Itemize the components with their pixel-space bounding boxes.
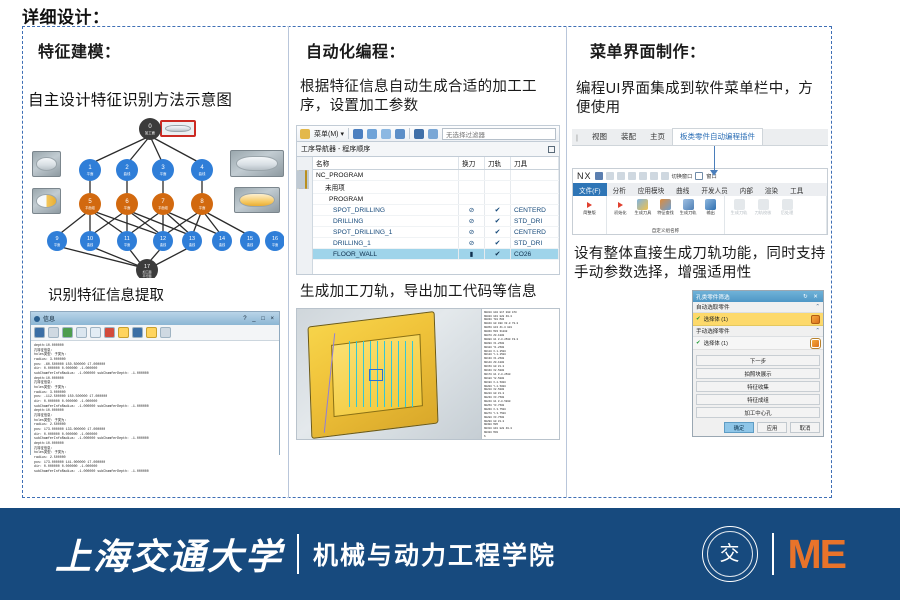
- dialog-row-auto-select[interactable]: ✔ 选择体 (1): [693, 313, 823, 326]
- software-menubar: | 视图 装配 主页 板类零件自动编程插件: [572, 129, 828, 146]
- ribbon-item-label: 生成刀轨: [729, 211, 749, 216]
- menu-label: 菜单(M): [314, 129, 339, 139]
- ribbon-item-label: 输出: [701, 211, 720, 216]
- toolpath-line: [363, 341, 364, 407]
- me-logo: ME: [788, 531, 846, 578]
- cancel-button[interactable]: 取消: [790, 422, 820, 433]
- select-point-icon[interactable]: [381, 129, 391, 139]
- toolpath-preview: N0010 G40 G17 G90 G70 N0020 G91 G28 Z0.0…: [296, 308, 560, 440]
- minimize-icon[interactable]: [160, 327, 171, 338]
- university-seal-logo: 交: [702, 526, 758, 582]
- table-row[interactable]: SPOT_DRILLING_1 ⊘ ✔ CENTERD: [313, 227, 559, 238]
- row-name: PROGRAM: [313, 194, 459, 205]
- svg-text:平面: 平面: [272, 243, 278, 247]
- ribbon-item-label: 特征查找: [656, 211, 675, 216]
- dialog-section-auto[interactable]: 自动选取零件 ⌃: [693, 302, 823, 313]
- svg-text:12: 12: [160, 236, 166, 242]
- toolpath-line: [384, 341, 385, 407]
- svg-text:14: 14: [219, 236, 225, 242]
- svg-text:平面组: 平面组: [85, 205, 95, 210]
- row-tool-change: ⊘: [459, 205, 485, 216]
- ribbon-item-label: 生成刀具: [634, 211, 653, 216]
- tree-node-8: 8 平面: [191, 193, 213, 215]
- row-tool: CENTERD: [511, 227, 559, 238]
- banner-divider: [297, 534, 299, 574]
- svg-text:平面: 平面: [160, 171, 167, 176]
- cad-3d-view[interactable]: [297, 309, 481, 439]
- tab-tools[interactable]: 工具: [784, 183, 809, 196]
- info-window-titlebar: 信息 ? _ □ ×: [31, 312, 279, 325]
- center-hole-button[interactable]: 加工中心孔: [696, 407, 820, 418]
- tree-node-12: 12 曲线: [153, 231, 173, 251]
- svg-text:曲线: 曲线: [219, 242, 226, 247]
- tree-node-5: 5 平面组: [79, 193, 101, 215]
- tree-node-1: 1 平面: [79, 159, 101, 181]
- svg-text:15: 15: [247, 236, 253, 242]
- navigator-rail: [297, 157, 313, 274]
- row-tool: [511, 194, 559, 205]
- next-step-button[interactable]: 下一步: [696, 355, 820, 366]
- svg-text:平行面: 平行面: [142, 273, 151, 278]
- ribbon-item-feature-find[interactable]: 特征查找: [656, 198, 675, 216]
- operation-table: 名称 换刀 刀轨 刀具 NC_PROGRAM: [313, 157, 559, 274]
- row-name: 未用项: [313, 181, 459, 194]
- menubar-block: | 视图 装配 主页 板类零件自动编程插件: [572, 129, 828, 146]
- nx-ribbon: NX 切换窗口 窗口 文件(F) 分析 应用模块 曲线 开发人员 内部 渲染: [572, 168, 828, 235]
- toolpath-line: [398, 341, 399, 407]
- row-tool-change: [459, 194, 485, 205]
- redo-icon[interactable]: [617, 172, 625, 180]
- panel-automated-programming: 自动化编程： 根据特征信息自动生成合适的加工工序，设置加工参数 菜单(M) ▾ …: [290, 26, 566, 498]
- delete-icon[interactable]: [104, 327, 115, 338]
- table-row[interactable]: SPOT_DRILLING ⊘ ✔ CENTERD: [313, 205, 559, 216]
- tree-node-13: 13 曲线: [182, 231, 202, 251]
- rail-workpiece-icon[interactable]: [307, 170, 309, 189]
- toolpath-line: [412, 341, 413, 407]
- tree-node-9: 9 平面: [47, 231, 67, 251]
- nx-logo: NX: [577, 171, 592, 181]
- row-tool-change: [459, 170, 485, 181]
- ribbon-group-1: 简整版: [573, 196, 607, 234]
- dialog-row-manual-select[interactable]: ✔ 选择体 (1): [693, 337, 823, 350]
- info-window-toolbar: [31, 325, 279, 341]
- apply-button[interactable]: 应用: [757, 422, 787, 433]
- row-toolpath: ✔: [485, 238, 511, 249]
- ribbon-groups: 简整版 初始化 生成刀具: [573, 196, 827, 234]
- tree-node-2: 2 曲线: [116, 159, 138, 181]
- ribbon-tabs: 文件(F) 分析 应用模块 曲线 开发人员 内部 渲染 工具: [573, 183, 827, 196]
- ribbon-item-gen-tool[interactable]: 生成刀具: [634, 198, 653, 216]
- panel-menu-ui: 菜单界面制作： 编程UI界面集成到软件菜单栏中，方便使用 | 视图 装配 主页 …: [568, 26, 832, 498]
- col-toolpath: 刀轨: [485, 157, 511, 170]
- selection-filter-input[interactable]: 无选择过滤器: [442, 128, 556, 140]
- row-tool-change: ⊘: [459, 216, 485, 227]
- tree-node-10: 10 曲线: [80, 231, 100, 251]
- svg-text:曲线: 曲线: [160, 242, 167, 247]
- callout-arrow-shaft: [714, 146, 715, 172]
- table-row-selected[interactable]: FLOOR_WALL ▮ ✔ CO26: [313, 249, 559, 260]
- nx-navigator-block: 菜单(M) ▾ 无选择过滤器 工序导航器 - 程序顺序: [296, 125, 560, 275]
- row-tool-change: [459, 181, 485, 194]
- row-name: DRILLING: [313, 216, 459, 227]
- undo-icon[interactable]: [132, 327, 143, 338]
- info-window-controls[interactable]: ? _ □ ×: [243, 316, 276, 322]
- toolpath-line: [391, 341, 392, 407]
- section-label: 手动选择零件: [696, 327, 730, 335]
- svg-text:曲线: 曲线: [247, 242, 254, 247]
- paste-icon[interactable]: [650, 172, 658, 180]
- operation-navigator-header: 工序导航器 - 程序顺序: [296, 142, 560, 157]
- svg-text:平面组: 平面组: [158, 205, 168, 210]
- svg-text:曲线: 曲线: [124, 171, 131, 176]
- ribbon-group-disabled: 生成刀轨 刀轨校核 后处理: [725, 196, 827, 234]
- row-toolpath: [485, 181, 511, 194]
- snap-icon[interactable]: [414, 129, 424, 139]
- menu-item-view[interactable]: 视图: [585, 129, 614, 145]
- panel3-bottom-description: 设有整体直接生成刀轨功能，同时支持手动参数选择，增强适用性: [574, 245, 826, 282]
- feature-tree-diagram: 0 加工面 1 平面 2 曲线 3 平面 4 曲线: [32, 118, 284, 278]
- svg-text:13: 13: [189, 236, 195, 242]
- snapshot-display-button[interactable]: 拍照块展示: [696, 368, 820, 379]
- footer-banner: 上海交通大学 机械与动力工程学院 交 ME: [0, 508, 900, 600]
- select-edge-icon[interactable]: [367, 129, 377, 139]
- feature-collect-button[interactable]: 特征收集: [696, 381, 820, 392]
- tab-curve[interactable]: 曲线: [670, 183, 695, 196]
- tree-node-0: 0 加工面: [139, 118, 161, 140]
- save-icon[interactable]: [34, 327, 45, 338]
- row-name: FLOOR_WALL: [313, 249, 459, 260]
- refresh-icon[interactable]: [90, 327, 101, 338]
- ribbon-item-label: 后处理: [777, 211, 797, 216]
- column-divider-2: [566, 26, 567, 498]
- seal-glyph: 交: [720, 544, 740, 564]
- dialog-wrapper: 孔类零件筛选 ↻ ✕ 自动选取零件 ⌃ ✔ 选择体 (1) 手动选择零件 ⌃: [568, 290, 824, 437]
- panel2-heading: 自动化编程：: [306, 38, 566, 62]
- filter-icon[interactable]: [428, 129, 438, 139]
- svg-text:平面: 平面: [199, 205, 206, 210]
- tree-graph-svg: 0 加工面 1 平面 2 曲线 3 平面 4 曲线: [32, 118, 284, 278]
- chevron-down-icon: ▾: [341, 130, 345, 138]
- operation-table-header: 名称 换刀 刀轨 刀具: [313, 157, 559, 170]
- toolbar-separator-1: [348, 128, 349, 139]
- slide-root: 详细设计： 特征建模： 自主设计特征识别方法示意图: [0, 0, 900, 600]
- svg-text:曲线: 曲线: [189, 242, 196, 247]
- quick-access-toolbar: NX 切换窗口 窗口: [573, 169, 827, 183]
- svg-text:平面: 平面: [124, 205, 131, 210]
- row-toolpath: [485, 170, 511, 181]
- tab-application[interactable]: 应用模块: [632, 183, 670, 196]
- toolpath-line: [356, 341, 357, 407]
- svg-text:曲线: 曲线: [199, 171, 206, 176]
- row-tool: STD_DRI: [511, 216, 559, 227]
- row-tool: [511, 181, 559, 194]
- row-label: 选择体 (1): [704, 315, 728, 323]
- col-name: 名称: [313, 157, 459, 170]
- hole-part-filter-dialog: 孔类零件筛选 ↻ ✕ 自动选取零件 ⌃ ✔ 选择体 (1) 手动选择零件 ⌃: [692, 290, 824, 437]
- row-toolpath: ✔: [485, 205, 511, 216]
- chevron-up-icon[interactable]: ⌃: [815, 328, 820, 334]
- ribbon-item-verify: 刀轨校核: [753, 198, 773, 216]
- body-select-icon[interactable]: [811, 339, 820, 348]
- row-tool-change: ⊘: [459, 227, 485, 238]
- column-divider-1: [288, 26, 289, 498]
- info-log-text: depth:10.000000 孔特征信息: holes类型: 子类为: rad…: [31, 341, 279, 476]
- add-icon[interactable]: [62, 327, 73, 338]
- info-log-window: 信息 ? _ □ × depth:10.000000 孔特征信息: holes类…: [30, 311, 280, 455]
- tab-developer[interactable]: 开发人员: [695, 183, 733, 196]
- svg-text:10: 10: [87, 236, 93, 242]
- table-row[interactable]: DRILLING_1 ⊘ ✔ STD_DRI: [313, 238, 559, 249]
- row-tool: STD_DRI: [511, 238, 559, 249]
- panel1-caption: 自主设计特征识别方法示意图: [28, 88, 282, 110]
- col-tool-change: 换刀: [459, 157, 485, 170]
- select-face-icon[interactable]: [353, 129, 363, 139]
- row-tool: [511, 170, 559, 181]
- info-window-title: 信息: [43, 314, 240, 323]
- operation-navigator-title: 工序导航器 - 程序顺序: [301, 144, 370, 154]
- svg-text:曲线: 曲线: [87, 242, 94, 247]
- print-icon[interactable]: [48, 327, 59, 338]
- panel3-description: 编程UI界面集成到软件菜单栏中，方便使用: [576, 80, 826, 117]
- ribbon-item-label: 简整版: [580, 211, 600, 216]
- tree-node-15: 15 曲线: [240, 231, 260, 251]
- ribbon-item-output[interactable]: 输出: [701, 198, 720, 216]
- section-label: 自动选取零件: [696, 303, 730, 311]
- ribbon-item-simple[interactable]: 简整版: [580, 198, 600, 216]
- copy-icon[interactable]: [639, 172, 647, 180]
- row-tool-change: ▮: [459, 249, 485, 260]
- link-icon[interactable]: [661, 172, 669, 180]
- svg-text:平面: 平面: [54, 243, 60, 247]
- ribbon-item-label: 生成刀轨: [679, 211, 698, 216]
- ribbon-item-label: 初始化: [611, 211, 630, 216]
- highlight-icon[interactable]: [118, 327, 129, 338]
- dialog-window-controls[interactable]: ↻ ✕: [803, 294, 820, 300]
- ribbon-item-label: 刀轨校核: [753, 211, 773, 216]
- ribbon-group-custom: 初始化 生成刀具 特征查找 生成刀轨: [607, 196, 725, 234]
- svg-text:11: 11: [124, 236, 130, 242]
- switch-window-label[interactable]: 切换窗口: [672, 173, 693, 180]
- college-name: 机械与动力工程学院: [313, 536, 556, 572]
- svg-text:加工面: 加工面: [145, 130, 156, 135]
- tree-node-6: 6 平面: [116, 193, 138, 215]
- panel-pin-icon[interactable]: [548, 146, 555, 153]
- copy-icon[interactable]: [76, 327, 87, 338]
- row-tool-change: ⊘: [459, 238, 485, 249]
- menu-item-home[interactable]: 主页: [643, 129, 672, 145]
- panel2-description: 根据特征信息自动生成合适的加工工序，设置加工参数: [300, 78, 556, 115]
- row-name: DRILLING_1: [313, 238, 459, 249]
- row-name: SPOT_DRILLING_1: [313, 227, 459, 238]
- body-select-icon[interactable]: [811, 315, 820, 324]
- row-tool: CENTERD: [511, 205, 559, 216]
- tree-node-14: 14 曲线: [212, 231, 232, 251]
- toolbar-separator-2: [409, 128, 410, 139]
- menu-item-assembly[interactable]: 装配: [614, 129, 643, 145]
- svg-text:平面: 平面: [87, 171, 94, 176]
- menu-item-plugin[interactable]: 板类零件自动编程插件: [672, 128, 763, 145]
- tab-internal[interactable]: 内部: [734, 183, 759, 196]
- operation-navigator-body: 名称 换刀 刀轨 刀具 NC_PROGRAM: [296, 157, 560, 275]
- menu-overflow-icon: |: [574, 131, 585, 145]
- toolpath-line: [349, 341, 350, 407]
- ribbon-item-gen-path[interactable]: 生成刀轨: [679, 198, 698, 216]
- row-name: NC_PROGRAM: [313, 170, 459, 181]
- table-row[interactable]: DRILLING ⊘ ✔ STD_DRI: [313, 216, 559, 227]
- page-title: 详细设计：: [22, 3, 110, 28]
- select-body-icon[interactable]: [395, 129, 405, 139]
- university-name: 上海交通大学: [55, 528, 283, 580]
- tree-node-7: 7 平面组: [152, 193, 174, 215]
- svg-text:平面: 平面: [124, 243, 130, 247]
- row-toolpath: ✔: [485, 227, 511, 238]
- banner-divider-2: [772, 533, 774, 575]
- row-tool: CO26: [511, 249, 559, 260]
- dialog-titlebar: 孔类零件筛选 ↻ ✕: [693, 291, 823, 302]
- nx-toolbar: 菜单(M) ▾ 无选择过滤器: [296, 125, 560, 142]
- chevron-up-icon[interactable]: ⌃: [815, 304, 820, 310]
- panel2-bottom-caption: 生成加工刀轨，导出加工代码等信息: [300, 283, 556, 302]
- tree-node-16: 16 平面: [265, 231, 284, 251]
- row-toolpath: [485, 194, 511, 205]
- panel1-bottom-caption: 识别特征信息提取: [48, 284, 288, 305]
- col-tool: 刀具: [511, 157, 559, 170]
- gcode-output[interactable]: N0010 G40 G17 G90 G70 N0020 G91 G28 Z0.0…: [481, 309, 559, 439]
- row-toolpath: ✔: [485, 216, 511, 227]
- menu-button[interactable]: 菜单(M) ▾: [314, 129, 344, 139]
- window-icon: [34, 316, 40, 322]
- tab-analysis[interactable]: 分析: [607, 183, 632, 196]
- panel3-heading: 菜单界面制作：: [590, 38, 832, 62]
- tree-node-4: 4 曲线: [191, 159, 213, 181]
- tab-file[interactable]: 文件(F): [573, 183, 607, 196]
- check-icon: ✔: [696, 340, 701, 346]
- table-row[interactable]: 未用项: [313, 181, 559, 194]
- table-row[interactable]: NC_PROGRAM: [313, 170, 559, 181]
- window-toggle-icon[interactable]: [146, 327, 157, 338]
- panel1-heading: 特征建模：: [38, 38, 288, 62]
- menu-icon: [300, 129, 310, 139]
- row-label: 选择体 (1): [704, 339, 728, 347]
- dialog-footer: 确定 应用 取消: [693, 420, 823, 436]
- ribbon-item-post: 后处理: [777, 198, 797, 216]
- tree-node-11: 11 平面: [117, 231, 137, 251]
- row-toolpath: ✔: [485, 249, 511, 260]
- ok-button[interactable]: 确定: [724, 422, 754, 433]
- tab-render[interactable]: 渲染: [759, 183, 784, 196]
- ribbon-item-gen-path-2: 生成刀轨: [729, 198, 749, 216]
- svg-text:9: 9: [55, 236, 58, 242]
- toolpath-line: [405, 341, 406, 407]
- svg-text:16: 16: [272, 236, 278, 242]
- dialog-section-manual[interactable]: 手动选择零件 ⌃: [693, 326, 823, 337]
- window-icon[interactable]: [695, 172, 703, 180]
- dialog-title: 孔类零件筛选: [696, 293, 803, 301]
- save-icon[interactable]: [595, 172, 603, 180]
- ribbon-item-init[interactable]: 初始化: [611, 198, 630, 216]
- row-name: SPOT_DRILLING: [313, 205, 459, 216]
- csys-marker: [369, 369, 383, 381]
- cut-icon[interactable]: [628, 172, 636, 180]
- panel-feature-modeling: 特征建模： 自主设计特征识别方法示意图: [22, 26, 288, 498]
- table-row[interactable]: PROGRAM: [313, 194, 559, 205]
- feature-group-button[interactable]: 特征成组: [696, 394, 820, 405]
- ribbon-group-title: 自定义组名称: [607, 228, 724, 234]
- check-icon: ✔: [696, 316, 701, 322]
- tree-node-3: 3 平面: [152, 159, 174, 181]
- callout-arrow-head: [710, 170, 718, 176]
- undo-icon[interactable]: [606, 172, 614, 180]
